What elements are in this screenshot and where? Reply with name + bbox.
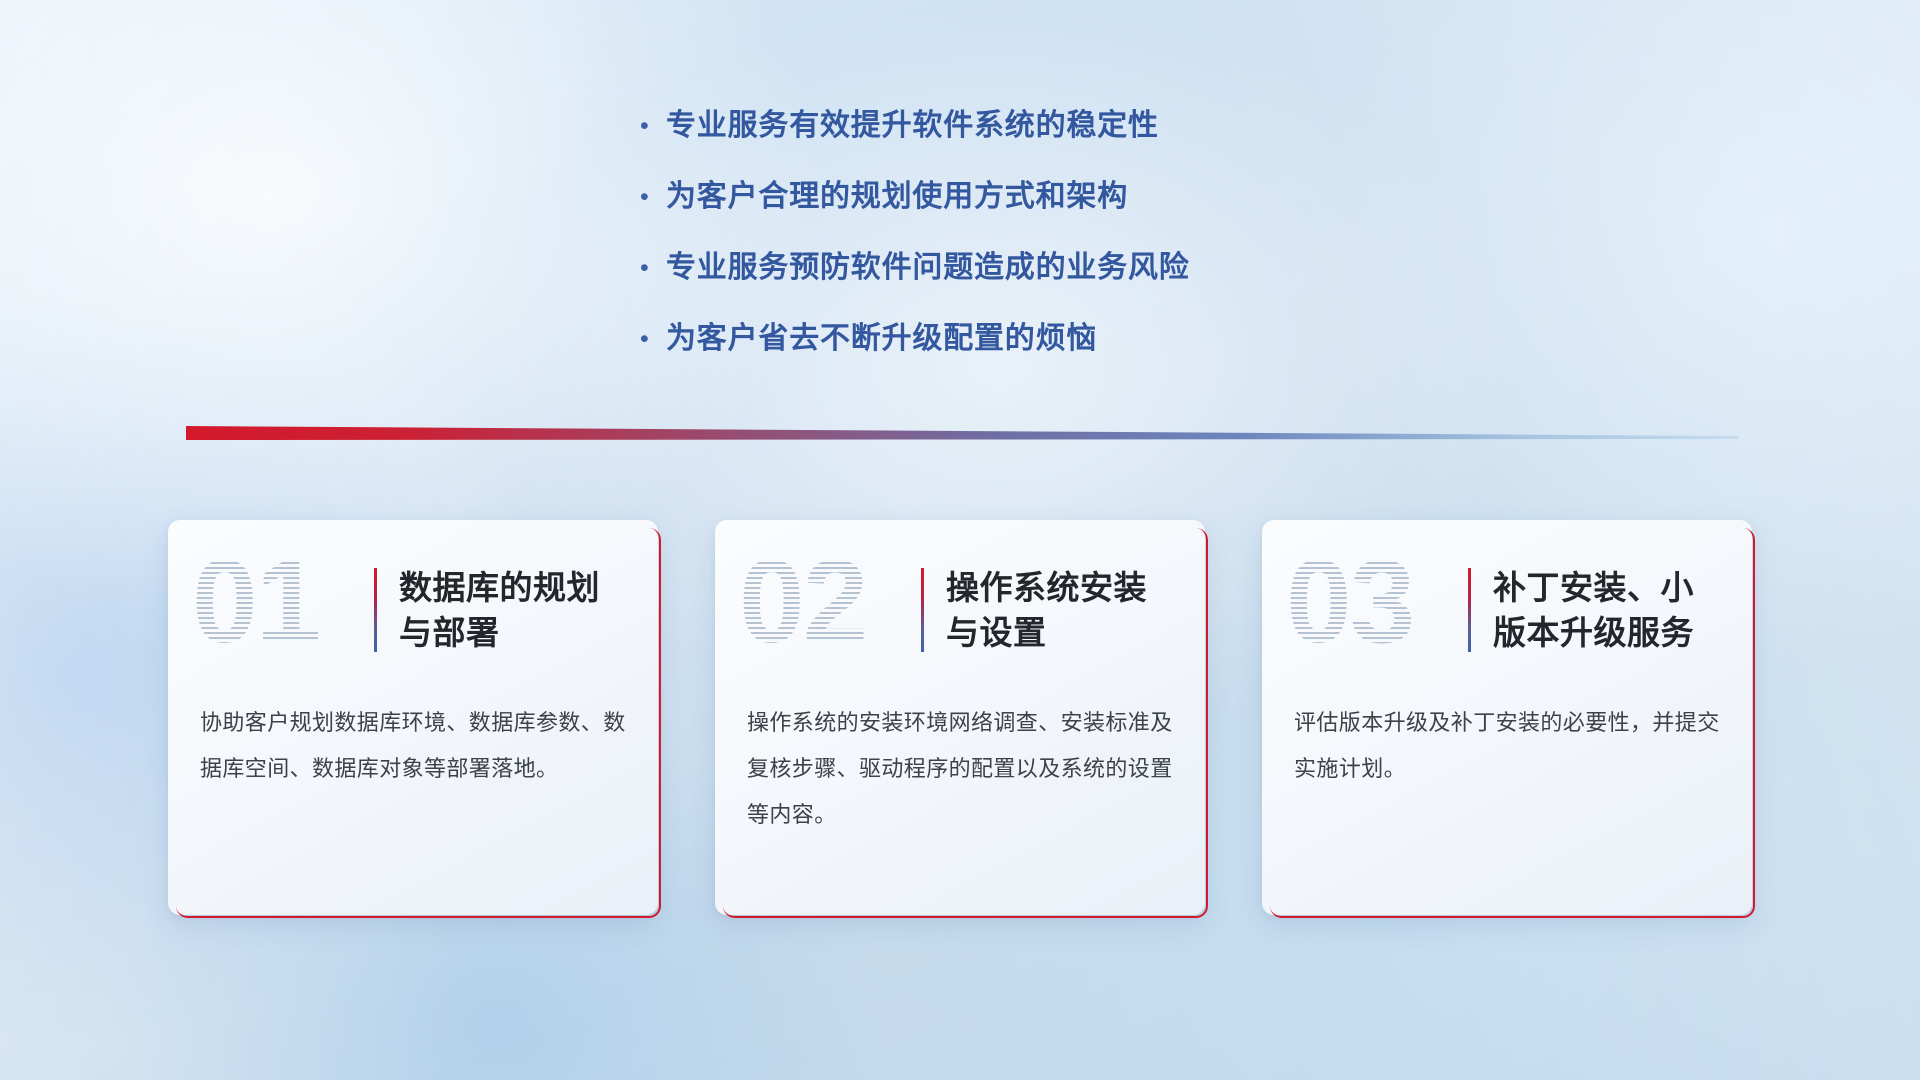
- card-header: 03 补丁安装、小 版本升级服务: [1262, 520, 1752, 700]
- list-item: • 专业服务预防软件问题造成的业务风险: [640, 250, 1190, 286]
- bullet-point-icon: •: [640, 179, 666, 215]
- card-header: 01 数据库的规划 与部署: [168, 520, 658, 700]
- list-item: • 为客户省去不断升级配置的烦恼: [640, 321, 1190, 357]
- card-title-divider-bar: [1468, 568, 1471, 652]
- service-card-list: 01 数据库的规划 与部署 协助客户规划数据库环境、数据库参数、数据库空间、数据…: [0, 520, 1920, 915]
- card-title-group: 数据库的规划 与部署: [374, 565, 600, 655]
- bullet-text: 专业服务预防软件问题造成的业务风险: [666, 250, 1190, 286]
- divider-shape: [186, 424, 1738, 448]
- bullet-point-icon: •: [640, 321, 666, 357]
- card-title: 补丁安装、小 版本升级服务: [1493, 565, 1694, 655]
- card-title-group: 操作系统安装 与设置: [921, 565, 1147, 655]
- bullet-text: 为客户省去不断升级配置的烦恼: [666, 321, 1097, 357]
- bullet-text: 专业服务有效提升软件系统的稳定性: [666, 108, 1159, 144]
- service-card[interactable]: 03 补丁安装、小 版本升级服务 评估版本升级及补丁安装的必要性，并提交实施计划…: [1262, 520, 1752, 915]
- service-card[interactable]: 01 数据库的规划 与部署 协助客户规划数据库环境、数据库参数、数据库空间、数据…: [168, 520, 658, 915]
- bullet-point-icon: •: [640, 108, 666, 144]
- slide-canvas: • 专业服务有效提升软件系统的稳定性 • 为客户合理的规划使用方式和架构 • 专…: [0, 0, 1920, 1080]
- bullet-text: 为客户合理的规划使用方式和架构: [666, 179, 1128, 215]
- card-title: 数据库的规划 与部署: [399, 565, 600, 655]
- card-title-group: 补丁安装、小 版本升级服务: [1468, 565, 1694, 655]
- section-divider: [186, 424, 1738, 448]
- list-item: • 专业服务有效提升软件系统的稳定性: [640, 108, 1190, 144]
- card-number-watermark: 02: [739, 542, 899, 662]
- card-body-text: 协助客户规划数据库环境、数据库参数、数据库空间、数据库对象等部署落地。: [168, 700, 658, 792]
- card-body-text: 操作系统的安装环境网络调查、安装标准及复核步骤、驱动程序的配置以及系统的设置等内…: [715, 700, 1205, 838]
- bullet-point-icon: •: [640, 250, 666, 286]
- list-item: • 为客户合理的规划使用方式和架构: [640, 179, 1190, 215]
- card-number-watermark: 03: [1286, 542, 1446, 662]
- benefits-bullet-list: • 专业服务有效提升软件系统的稳定性 • 为客户合理的规划使用方式和架构 • 专…: [640, 108, 1190, 392]
- service-card[interactable]: 02 操作系统安装 与设置 操作系统的安装环境网络调查、安装标准及复核步骤、驱动…: [715, 520, 1205, 915]
- card-title: 操作系统安装 与设置: [946, 565, 1147, 655]
- card-body-text: 评估版本升级及补丁安装的必要性，并提交实施计划。: [1262, 700, 1752, 792]
- card-number-watermark: 01: [192, 542, 352, 662]
- card-header: 02 操作系统安装 与设置: [715, 520, 1205, 700]
- card-title-divider-bar: [921, 568, 924, 652]
- card-title-divider-bar: [374, 568, 377, 652]
